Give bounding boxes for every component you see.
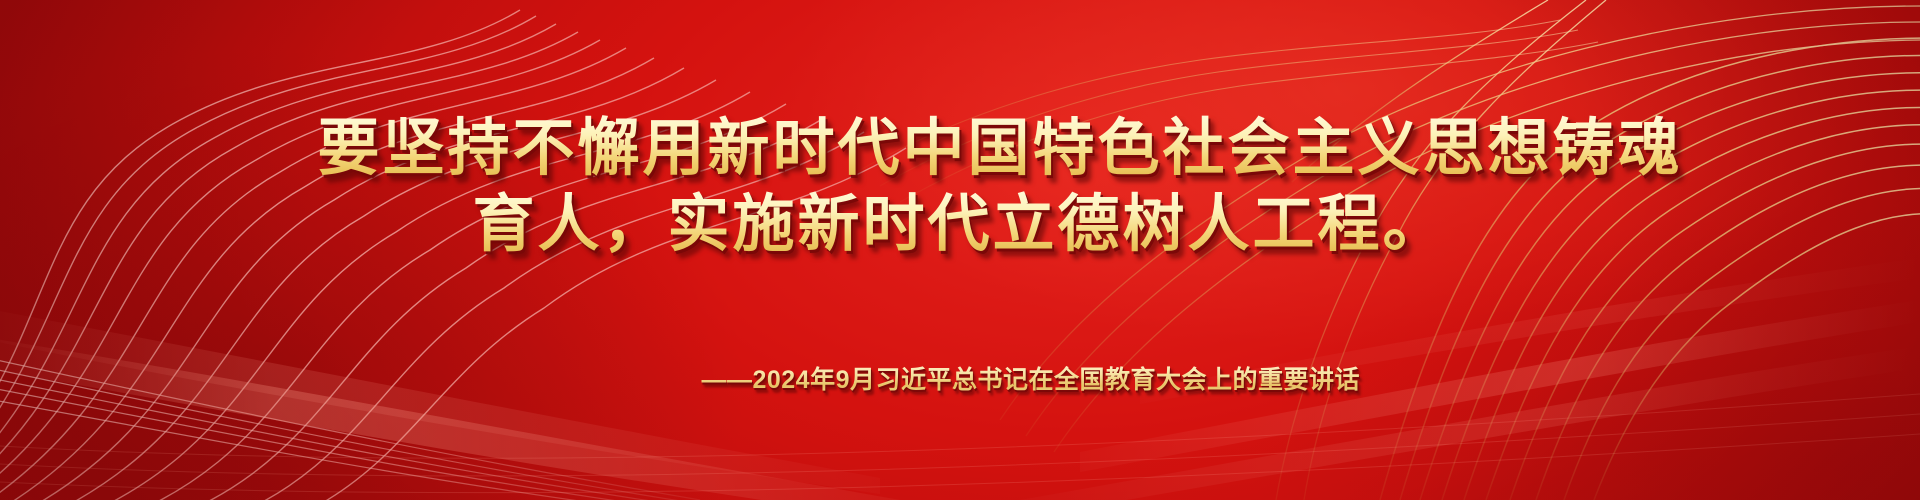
headline-line-1: 要坚持不懈用新时代中国特色社会主义思想铸魂 (0, 110, 1920, 188)
quote-attribution: ——2024年9月习近平总书记在全国教育大会上的重要讲话 (0, 360, 1920, 396)
propaganda-banner: 要坚持不懈用新时代中国特色社会主义思想铸魂 育人，实施新时代立德树人工程。 ——… (0, 0, 1920, 500)
banner-content: 要坚持不懈用新时代中国特色社会主义思想铸魂 育人，实施新时代立德树人工程。 ——… (0, 0, 1920, 500)
headline-line-2: 育人，实施新时代立德树人工程。 (0, 186, 1920, 264)
